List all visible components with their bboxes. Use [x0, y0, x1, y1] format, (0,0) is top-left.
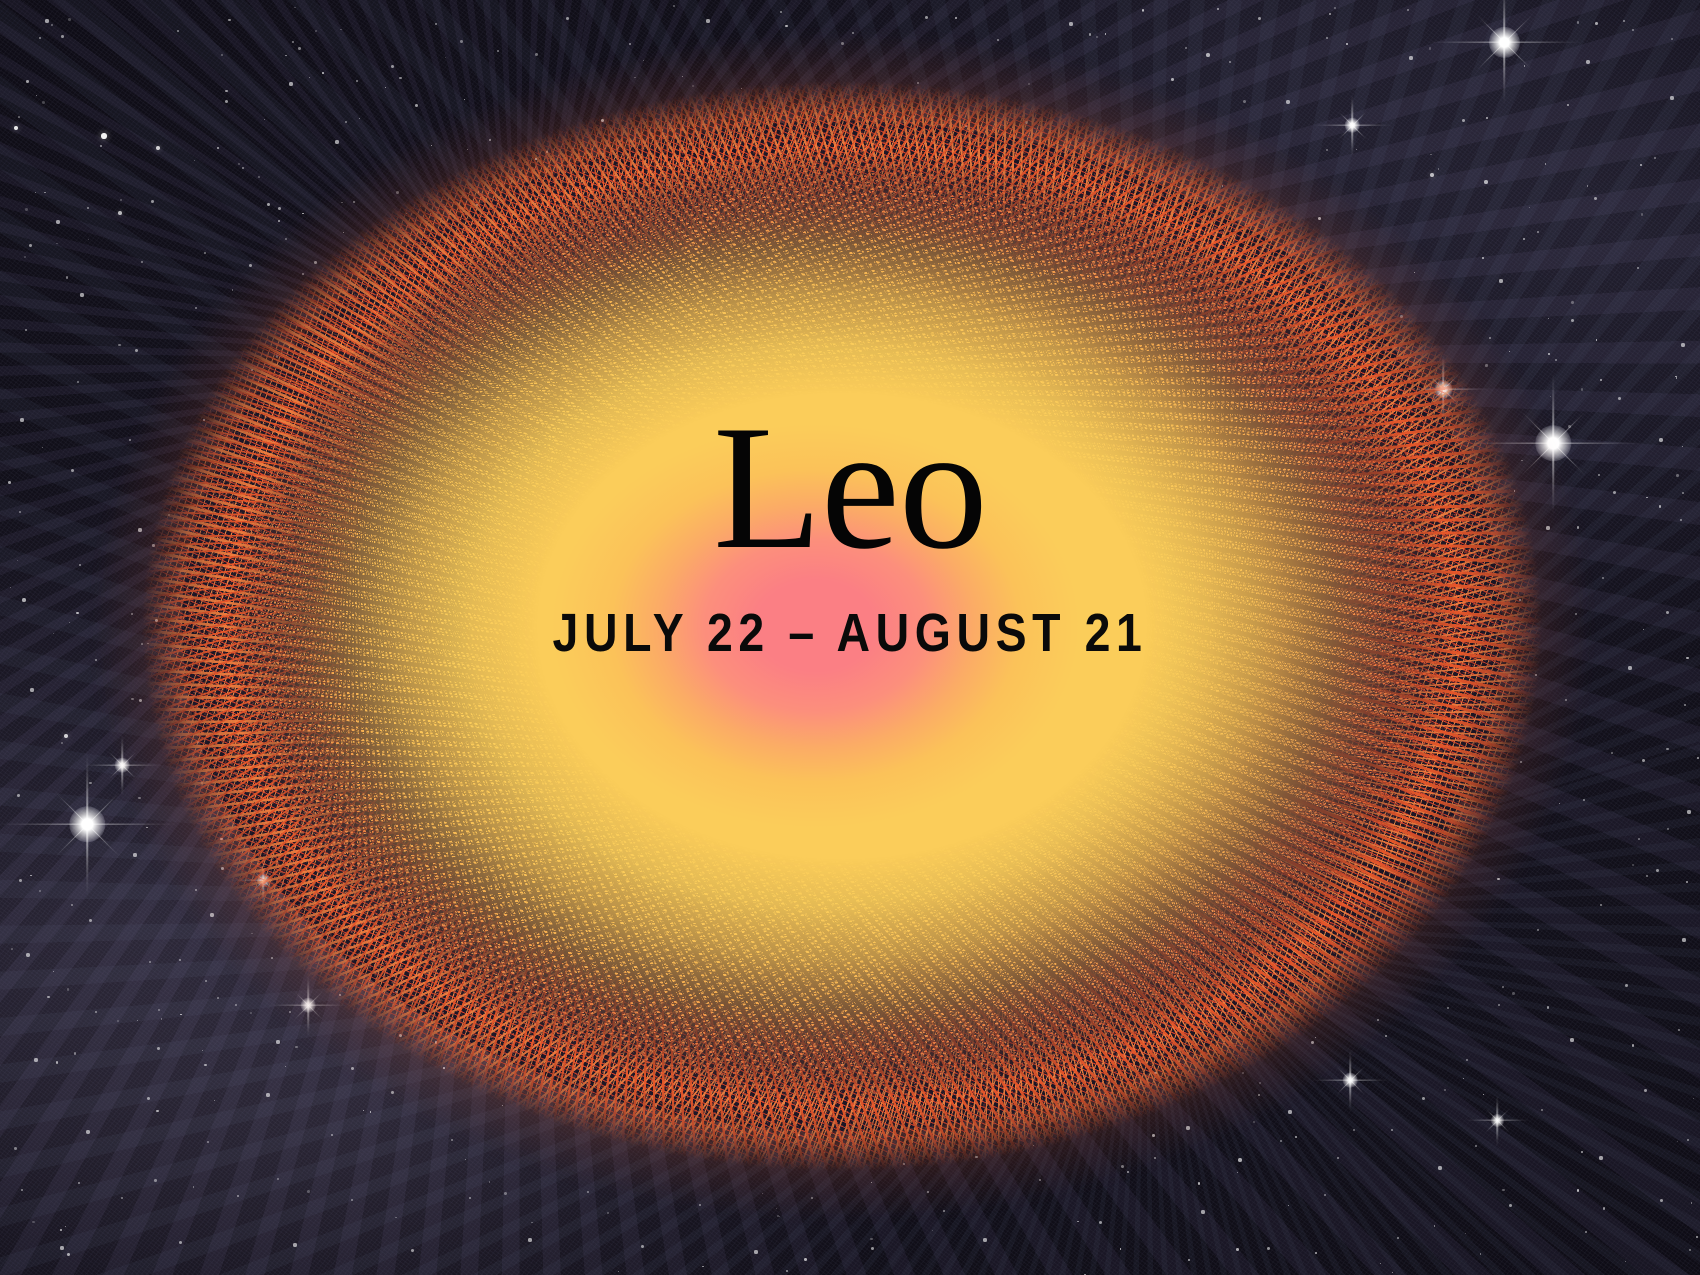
star-dot: [1502, 1189, 1505, 1192]
star-dot: [1623, 20, 1626, 23]
star-dot: [1687, 810, 1690, 813]
star-dot: [30, 875, 32, 877]
star-dot: [1599, 1156, 1602, 1159]
star-dot: [955, 17, 957, 19]
star-dot: [36, 95, 37, 96]
star-dot: [1286, 100, 1289, 103]
star-dot: [87, 207, 90, 210]
star-dot: [1326, 37, 1329, 40]
star-dot: [42, 101, 45, 104]
star-dot: [780, 11, 783, 14]
star-dot: [399, 77, 402, 80]
star-dot: [1397, 1237, 1400, 1240]
star-dot: [1600, 379, 1602, 381]
star-dot: [1687, 1139, 1690, 1142]
star-dot: [871, 1247, 874, 1250]
star-dot: [1465, 1233, 1467, 1235]
star-dot: [1646, 497, 1648, 499]
star-dot: [47, 996, 49, 998]
star-dot: [19, 879, 22, 882]
star-dot: [32, 1221, 35, 1224]
star-dot: [1656, 869, 1659, 872]
star-dot: [20, 418, 23, 421]
star-dot: [1666, 748, 1668, 750]
star-dot: [870, 1238, 873, 1241]
star-dot: [135, 349, 138, 352]
star-dot: [29, 244, 32, 247]
star-dot: [292, 41, 293, 42]
star-dot: [356, 80, 358, 82]
star-dot: [1643, 629, 1645, 631]
star-dot: [1686, 657, 1688, 659]
star-dot: [415, 104, 418, 107]
star-dot: [86, 1130, 89, 1133]
star-dot: [158, 1009, 160, 1011]
star-dot: [785, 25, 788, 28]
star-dot: [18, 116, 20, 118]
star-dot: [193, 1186, 195, 1188]
star-dot: [89, 782, 91, 784]
star-dot: [11, 948, 13, 950]
star-dot: [1198, 1182, 1201, 1185]
star-dot: [1603, 1207, 1605, 1209]
star-dot: [1585, 1231, 1588, 1234]
star-dot: [1632, 1044, 1634, 1046]
star-dot: [207, 1141, 210, 1144]
star-dot: [1654, 157, 1657, 160]
star-dot: [1089, 33, 1091, 35]
star-dot: [1475, 1145, 1477, 1147]
star-dot: [309, 77, 310, 78]
star-dot: [1677, 1141, 1678, 1142]
star-dot: [983, 1238, 986, 1241]
star-dot: [137, 1020, 138, 1021]
star-dot: [25, 329, 28, 332]
star-dot: [61, 742, 63, 744]
star-dot: [117, 1020, 119, 1022]
star-dot: [177, 30, 180, 33]
star-dot: [1559, 803, 1560, 804]
star-dot: [118, 211, 122, 215]
star-dot: [1288, 1205, 1289, 1206]
star-dot: [1696, 1236, 1698, 1238]
star-dot: [53, 971, 54, 972]
star-dot: [1660, 1199, 1663, 1202]
star-dot: [66, 276, 69, 279]
star-dot: [307, 1190, 310, 1193]
star-dot: [101, 133, 106, 138]
star-dot: [294, 7, 296, 9]
star-dot: [1537, 929, 1540, 932]
star-dot: [1069, 22, 1072, 25]
star-dot: [25, 208, 28, 211]
star-dot: [45, 19, 48, 22]
star-dot: [1641, 213, 1644, 216]
star-dot: [1346, 43, 1347, 44]
star-dot: [1295, 1136, 1297, 1138]
star-dot: [641, 1245, 644, 1248]
star-dot: [68, 18, 71, 21]
star-dot: [89, 919, 92, 922]
star-dot: [1550, 396, 1552, 398]
star-dot: [100, 145, 102, 147]
star-dot: [161, 1018, 162, 1019]
star-dot: [1480, 1253, 1481, 1254]
star-dot: [1625, 984, 1628, 987]
star-dot: [531, 1222, 532, 1223]
star-dot: [925, 16, 928, 19]
star-dot: [60, 1229, 62, 1231]
star-dot: [1577, 1189, 1580, 1192]
zodiac-poster: Leo JULY 22 – AUGUST 21: [0, 0, 1700, 1275]
star-dot: [149, 961, 152, 964]
star-dot: [1618, 397, 1621, 400]
star-dot: [1686, 881, 1688, 883]
star-dot: [322, 72, 324, 74]
star-dot: [17, 794, 20, 797]
sun-glow-oval: [182, 121, 1502, 1131]
star-dot: [71, 469, 74, 472]
star-dot: [1682, 446, 1684, 448]
star-dot: [1524, 65, 1525, 66]
star-dot: [1577, 21, 1580, 24]
star-dot: [497, 50, 500, 53]
star-dot: [44, 192, 46, 194]
star-dot: [1595, 22, 1598, 25]
star-dot: [1548, 318, 1549, 319]
star-dot: [1337, 1157, 1340, 1160]
star-dot: [1670, 96, 1673, 99]
star-dot: [19, 511, 22, 514]
star-dot: [1171, 78, 1174, 81]
star-dot: [786, 1270, 788, 1272]
star-dot: [566, 17, 569, 20]
star-dot: [120, 199, 122, 201]
star-dot: [293, 1243, 296, 1246]
star-dot: [1334, 7, 1337, 10]
star-dot: [179, 959, 182, 962]
star-dot: [1545, 163, 1547, 165]
star-dot: [151, 200, 154, 203]
star-dot: [1625, 1261, 1627, 1263]
star-dot: [1434, 1225, 1436, 1227]
star-dot: [1206, 53, 1210, 57]
star-dot: [1581, 1151, 1583, 1153]
star-dot: [24, 256, 26, 258]
star-dot: [1571, 301, 1574, 304]
star-dot: [1667, 828, 1669, 830]
star-dot: [1638, 838, 1640, 840]
star-dot: [1315, 1252, 1317, 1254]
star-dot: [67, 1253, 70, 1256]
star-dot: [289, 82, 292, 85]
star-dot: [1407, 9, 1410, 12]
star-dot: [1568, 425, 1571, 428]
star-dot: [411, 1249, 414, 1252]
star-dot: [156, 1110, 159, 1113]
star-dot: [1681, 343, 1684, 346]
star-dot: [754, 1250, 757, 1253]
star-dot: [118, 344, 121, 347]
star-dot: [1237, 1172, 1239, 1174]
star-dot: [22, 598, 26, 602]
star-dot: [607, 1212, 610, 1215]
star-dot: [1217, 8, 1219, 10]
star-dot: [331, 1134, 334, 1137]
star-dot: [535, 53, 538, 56]
bright-star-icon: [87, 824, 88, 825]
star-dot: [1666, 611, 1669, 614]
star-dot: [1512, 992, 1515, 995]
star-dot: [121, 1197, 124, 1200]
star-dot: [469, 1197, 472, 1200]
star-dot: [351, 1199, 354, 1202]
star-dot: [1693, 1098, 1694, 1099]
star-dot: [1598, 474, 1600, 476]
star-dot: [14, 1147, 17, 1150]
star-dot: [79, 564, 82, 567]
star-dot: [1682, 492, 1684, 494]
star-dot: [315, 30, 317, 32]
star-dot: [141, 261, 144, 264]
star-dot: [1691, 1202, 1693, 1204]
star-dot: [1680, 519, 1683, 522]
star-dot: [1684, 704, 1687, 707]
star-dot: [1586, 60, 1589, 63]
star-dot: [1537, 231, 1540, 234]
star-dot: [237, 1195, 240, 1198]
star-dot: [1548, 353, 1550, 355]
star-dot: [1682, 938, 1685, 941]
star-dot: [1188, 1259, 1190, 1261]
star-dot: [1587, 185, 1589, 187]
star-dot: [1678, 1029, 1681, 1032]
star-dot: [228, 19, 230, 21]
star-dot: [1329, 13, 1331, 15]
star-dot: [1267, 1247, 1270, 1250]
star-dot: [133, 853, 136, 856]
star-dot: [1486, 117, 1488, 119]
star-dot: [1380, 1263, 1381, 1264]
star-dot: [1596, 339, 1597, 340]
star-dot: [1201, 1210, 1204, 1213]
star-dot: [1642, 759, 1645, 762]
star-dot: [56, 243, 58, 245]
star-dot: [225, 90, 228, 93]
star-dot: [17, 560, 19, 562]
star-dot: [14, 126, 19, 131]
star-dot: [71, 904, 74, 907]
star-dot: [298, 47, 301, 50]
star-dot: [1689, 1249, 1692, 1252]
star-dot: [1676, 474, 1679, 477]
star-dot: [76, 612, 79, 615]
star-dot: [1096, 36, 1098, 38]
star-dot: [67, 988, 70, 991]
star-dot: [1243, 100, 1246, 103]
star-dot: [1640, 164, 1642, 166]
star-dot: [1099, 1221, 1102, 1224]
star-dot: [1077, 1221, 1079, 1223]
star-dot: [1502, 986, 1504, 988]
star-dot: [1236, 1248, 1239, 1251]
star-dot: [435, 23, 438, 26]
star-dot: [1697, 757, 1699, 759]
star-dot: [78, 1182, 80, 1184]
star-dot: [61, 35, 64, 38]
star-dot: [1541, 1109, 1544, 1112]
glow-outer-speckle: [142, 81, 1542, 1171]
star-dot: [1583, 799, 1586, 802]
star-dot: [1523, 238, 1525, 240]
star-dot: [221, 54, 223, 56]
star-dot: [1659, 505, 1662, 508]
star-dot: [618, 1271, 620, 1273]
star-dot: [1628, 666, 1631, 669]
star-dot: [51, 24, 53, 26]
star-dot: [932, 1230, 933, 1231]
star-dot: [42, 447, 43, 448]
star-dot: [64, 734, 68, 738]
star-dot: [10, 587, 11, 588]
star-dot: [77, 381, 80, 384]
star-dot: [1571, 319, 1574, 322]
star-dot: [147, 1097, 150, 1100]
star-dot: [587, 1191, 590, 1194]
star-dot: [225, 100, 228, 103]
star-dot: [460, 40, 463, 43]
star-dot: [69, 622, 70, 623]
star-dot: [26, 953, 29, 956]
star-dot: [1644, 1089, 1647, 1092]
star-dot: [179, 1241, 182, 1244]
star-dot: [156, 146, 160, 150]
star-dot: [1567, 104, 1570, 107]
star-dot: [1185, 47, 1188, 50]
star-dot: [56, 1061, 59, 1064]
star-dot: [997, 39, 1000, 42]
star-dot: [445, 57, 446, 58]
star-dot: [277, 1178, 279, 1180]
star-dot: [1438, 1166, 1441, 1169]
star-dot: [95, 1011, 98, 1014]
star-dot: [451, 1139, 454, 1142]
star-dot: [1570, 1038, 1573, 1041]
star-dot: [528, 1238, 531, 1241]
star-dot: [34, 1058, 37, 1061]
star-dot: [30, 688, 33, 691]
star-dot: [1509, 1204, 1512, 1207]
star-dot: [35, 192, 36, 193]
star-dot: [1547, 1006, 1549, 1008]
star-dot: [1632, 864, 1634, 866]
star-dot: [1581, 388, 1584, 391]
star-dot: [385, 87, 386, 88]
star-dot: [39, 890, 41, 892]
star-dot: [1324, 1194, 1327, 1197]
star-dot: [1600, 904, 1603, 907]
star-dot: [74, 1052, 76, 1054]
star-dot: [26, 80, 29, 83]
star-dot: [53, 633, 55, 635]
star-dot: [1280, 1140, 1282, 1142]
star-dot: [1602, 577, 1605, 580]
star-dot: [1632, 29, 1634, 31]
star-dot: [154, 1179, 157, 1182]
star-dot: [56, 220, 59, 223]
star-dot: [1659, 438, 1662, 441]
star-dot: [804, 1258, 807, 1261]
star-dot: [1613, 491, 1616, 494]
star-dot: [65, 1226, 66, 1227]
star-dot: [39, 37, 42, 40]
star-dot: [8, 481, 11, 484]
star-dot: [21, 1189, 24, 1192]
star-dot: [1409, 56, 1412, 59]
star-dot: [1594, 197, 1597, 200]
star-dot: [489, 1181, 491, 1183]
star-dot: [1555, 359, 1558, 362]
star-dot: [391, 65, 394, 68]
star-dot: [340, 29, 342, 31]
star-dot: [359, 118, 360, 119]
star-dot: [673, 5, 676, 8]
star-dot: [395, 1217, 396, 1218]
star-dot: [1120, 1248, 1121, 1249]
star-dot: [1646, 875, 1649, 878]
star-dot: [1529, 207, 1530, 208]
star-dot: [1238, 1158, 1242, 1162]
bright-star-icon: [1504, 42, 1505, 43]
star-dot: [285, 55, 286, 56]
star-dot: [60, 1246, 63, 1249]
star-dot: [702, 1266, 704, 1268]
star-dot: [1637, 267, 1640, 270]
star-dot: [1392, 1272, 1393, 1273]
star-dot: [706, 19, 709, 22]
star-dot: [1258, 17, 1261, 20]
star-dot: [80, 293, 83, 296]
star-dot: [88, 239, 89, 240]
star-dot: [504, 1192, 507, 1195]
star-dot: [464, 99, 466, 101]
star-dot: [1671, 38, 1673, 40]
star-dot: [1676, 377, 1677, 378]
star-dot: [629, 43, 632, 46]
star-dot: [1229, 61, 1231, 63]
star-dot: [157, 1047, 160, 1050]
star-dot: [1429, 47, 1431, 49]
star-dot: [1105, 33, 1107, 35]
star-dot: [1611, 752, 1613, 754]
star-dot: [1142, 9, 1144, 11]
star-dot: [465, 1159, 466, 1160]
